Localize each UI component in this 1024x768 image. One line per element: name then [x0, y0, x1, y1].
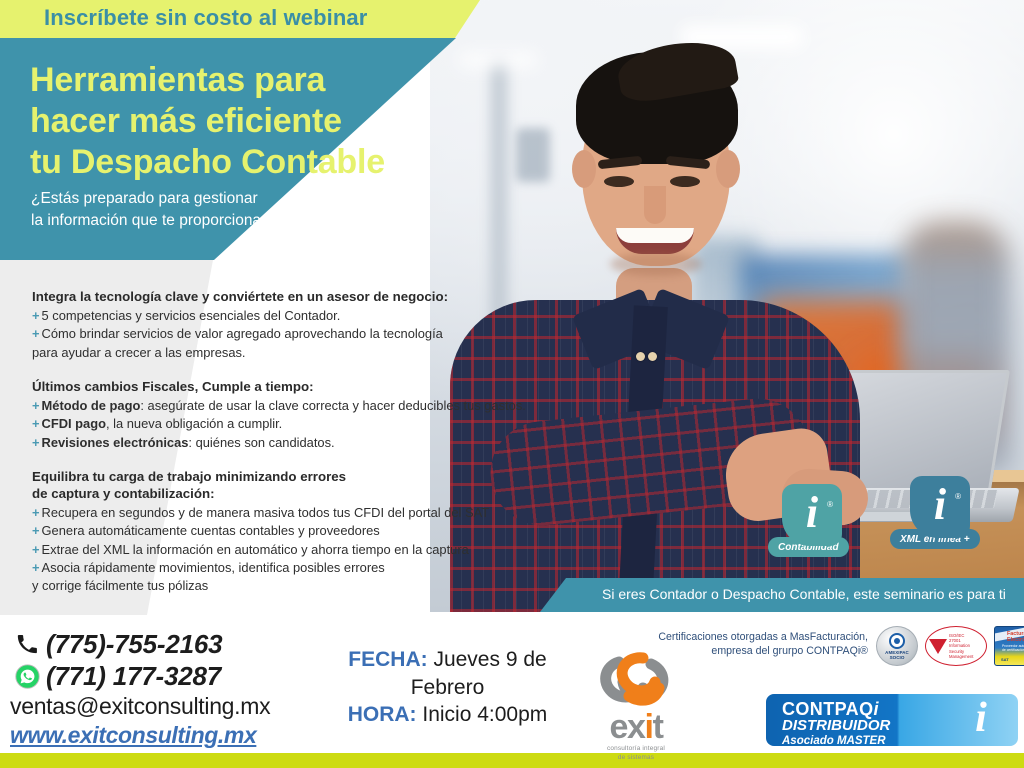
headline-line-2: hacer más eficiente [30, 101, 460, 142]
shirt-button [648, 352, 657, 361]
whatsapp-number: (771) 177-3287 [46, 661, 221, 692]
heading-line: Integra la tecnología clave y conviértet… [32, 288, 542, 305]
agenda-item-text: : asegúrate de usar la clave correcta y … [140, 398, 526, 413]
webinar-flyer: i ® Contabilidad i ® XML en línea + Si e… [0, 0, 1024, 768]
agenda-item: +Revisiones electrónicas: quiénes son ca… [32, 434, 542, 452]
contact-info: (775)-755-2163 (771) 177-3287 ventas@exi… [8, 628, 270, 749]
contpaqi-word: CONTPAQ [782, 699, 873, 719]
agenda-continuation: y corrige fácilmente tus pólizas [32, 577, 542, 595]
website-link[interactable]: www.exitconsulting.mx [8, 722, 270, 749]
headline-line-1: Herramientas para [30, 60, 460, 101]
factura-line-3: Proveedor autorizado de certificación [1002, 644, 1024, 652]
ear-right [716, 150, 740, 188]
agenda-block-heading: Integra la tecnología clave y conviértet… [32, 288, 542, 305]
agenda-item: +Asocia rápidamente movimientos, identif… [32, 559, 542, 577]
factura-electronica-sat-badge: Factura Electrónica Proveedor autorizado… [994, 626, 1024, 666]
agenda-block: Últimos cambios Fiscales, Cumple a tiemp… [32, 378, 542, 452]
certifications-line-1: Certificaciones otorgadas a MasFacturaci… [600, 630, 868, 644]
plus-bullet-icon: + [32, 435, 40, 450]
teeth [616, 228, 694, 243]
iso-27001-badge: ISO/IEC 27001 Information Security Manag… [925, 626, 987, 666]
factura-line-2: Electrónica [1007, 638, 1024, 644]
registered-mark: ® [827, 500, 833, 509]
agenda-item-text: Cómo brindar servicios de valor agregado… [42, 326, 443, 341]
event-datetime: FECHA: Jueves 9 de Febrero HORA: Inicio … [325, 646, 570, 729]
factura-title: Factura Electrónica [1007, 632, 1024, 644]
heading-line: de captura y contabilización: [32, 485, 542, 502]
event-date-line: FECHA: Jueves 9 de [325, 646, 570, 674]
headline-subtitle: ¿Estás preparado para gestionar la infor… [31, 188, 451, 232]
plus-bullet-icon: + [32, 560, 40, 575]
agenda-item-text: Extrae del XML la información en automát… [42, 542, 469, 557]
whatsapp-icon [8, 664, 46, 689]
product-badge-contabilidad: i ® Contabilidad [782, 484, 849, 557]
exit-tagline-line-2: de sistemas [578, 754, 694, 762]
agenda-item-text: Recupera en segundos y de manera masiva … [42, 505, 490, 520]
plus-bullet-icon: + [32, 308, 40, 323]
exit-word-accent: i [645, 708, 653, 746]
contpaqi-badge-text: CONTPAQi DISTRIBUIDOR Asociado MASTER [766, 694, 944, 746]
shirt-button [636, 352, 645, 361]
plus-bullet-icon: + [32, 416, 40, 431]
top-banner: Inscríbete sin costo al webinar [0, 0, 480, 38]
agenda-list: Integra la tecnología clave y conviértet… [32, 288, 542, 596]
eye-right [670, 176, 700, 187]
agenda-item: +Recupera en segundos y de manera masiva… [32, 504, 542, 522]
contpaqi-i-icon: i [944, 694, 1018, 746]
time-label: HORA: [348, 703, 417, 726]
i-glyph: i [975, 697, 987, 739]
agenda-block: Integra la tecnología clave y conviértet… [32, 288, 542, 362]
heading-line: Equilibra tu carga de trabajo minimizand… [32, 468, 542, 485]
i-glyph: i [806, 491, 818, 535]
factura-badge-card: Factura Electrónica Proveedor autorizado… [994, 626, 1024, 666]
agenda-block-heading: Equilibra tu carga de trabajo minimizand… [32, 468, 542, 502]
agenda-item-bold: Método de pago [42, 398, 141, 413]
contpaqi-i-icon: i ® [910, 476, 970, 538]
heading-line: Últimos cambios Fiscales, Cumple a tiemp… [32, 378, 542, 395]
subtitle-line-2: la información que te proporciona el XML… [31, 210, 451, 232]
product-badge-xml: i ® XML en línea + [910, 476, 980, 549]
time-value: Inicio 4:00pm [422, 703, 547, 726]
photo-caption-bar: Si eres Contador o Despacho Contable, es… [540, 578, 1024, 612]
nose [644, 186, 666, 224]
iso-badge-text: ISO/IEC 27001 Information Security Manag… [949, 633, 986, 659]
agenda-item-bold: CFDI pago [42, 416, 106, 431]
contpaqi-i-icon: i ® [782, 484, 842, 546]
bottom-accent-strip [0, 753, 1024, 768]
photo-caption-text: Si eres Contador o Despacho Contable, es… [540, 578, 1024, 602]
exit-logo: exit consultoría integral de sistemas [578, 652, 694, 762]
whatsapp-row[interactable]: (771) 177-3287 [8, 660, 270, 692]
agenda-item: +5 competencias y servicios esenciales d… [32, 307, 542, 325]
event-time-line: HORA: Inicio 4:00pm [325, 701, 570, 729]
agenda-item: +Extrae del XML la información en automá… [32, 541, 542, 559]
iso-badge-oval: ISO/IEC 27001 Information Security Manag… [925, 626, 987, 666]
agenda-item: +Método de pago: asegúrate de usar la cl… [32, 397, 542, 415]
exit-word-pre: ex [609, 708, 644, 746]
event-date-line-2: Febrero [325, 674, 570, 702]
iso-line-4: Management [949, 654, 986, 659]
plus-bullet-icon: + [32, 326, 40, 341]
registered-mark: ® [955, 492, 961, 501]
agenda-continuation: para ayudar a crecer a las empresas. [32, 344, 542, 362]
chin-shadow [610, 252, 702, 276]
plus-bullet-icon: + [32, 523, 40, 538]
agenda-item-text: Genera automáticamente cuentas contables… [42, 523, 380, 538]
factura-line-4: SAT [1001, 657, 1009, 662]
headline-line-3: tu Despacho Contable [30, 142, 460, 183]
iso-triangle-icon [929, 639, 947, 654]
contpaqi-word-i: i [873, 699, 878, 719]
date-value: Jueves 9 de [433, 648, 546, 671]
i-glyph: i [934, 483, 946, 527]
agenda-block-heading: Últimos cambios Fiscales, Cumple a tiemp… [32, 378, 542, 395]
agenda-block: Equilibra tu carga de trabajo minimizand… [32, 468, 542, 596]
contpaqi-line-3: Asociado MASTER [782, 735, 944, 746]
amexipac-line-2: SOCIO [890, 655, 905, 660]
plus-bullet-icon: + [32, 398, 40, 413]
page-title: Herramientas para hacer más eficiente tu… [30, 60, 460, 182]
phone-number: (775)-755-2163 [46, 629, 222, 660]
plus-bullet-icon: + [32, 505, 40, 520]
contpaqi-line-1: CONTPAQi [782, 700, 944, 718]
agenda-item-text: Asocia rápidamente movimientos, identifi… [42, 560, 385, 575]
exit-word-post: t [653, 708, 663, 746]
phone-icon [8, 633, 46, 655]
date-value-2: Febrero [411, 676, 485, 699]
agenda-item: +Genera automáticamente cuentas contable… [32, 522, 542, 540]
agenda-item-text: : quiénes son candidatos. [188, 435, 334, 450]
exit-tagline-line-1: consultoría integral [578, 745, 694, 753]
agenda-item-text: , la nueva obligación a cumplir. [106, 416, 282, 431]
amexipac-badge-circle: AMEXIPAC SOCIO [876, 626, 918, 666]
certification-badges: AMEXIPAC SOCIO ISO/IEC 27001 Information… [876, 626, 1024, 666]
eye-left [604, 176, 634, 187]
iso-line-3: Information Security [949, 643, 986, 654]
agenda-item: +CFDI pago, la nueva obligación a cumpli… [32, 415, 542, 433]
amexipac-ring-icon [889, 633, 905, 649]
exit-wordmark: exit [578, 711, 694, 743]
subtitle-line-1: ¿Estás preparado para gestionar [31, 188, 451, 210]
agenda-item: +Cómo brindar servicios de valor agregad… [32, 325, 542, 343]
top-banner-label: Inscríbete sin costo al webinar [0, 0, 480, 31]
amexipac-socio-badge: AMEXIPAC SOCIO [876, 626, 918, 666]
ear-left [572, 150, 596, 188]
contpaqi-distribuidor-badge: CONTPAQi DISTRIBUIDOR Asociado MASTER i [766, 694, 1018, 746]
plus-bullet-icon: + [32, 542, 40, 557]
phone-row[interactable]: (775)-755-2163 [8, 628, 270, 660]
exit-tagline: consultoría integral de sistemas [578, 745, 694, 762]
email-address[interactable]: ventas@exitconsulting.mx [8, 693, 270, 720]
agenda-item-text: 5 competencias y servicios esenciales de… [42, 308, 341, 323]
agenda-item-bold: Revisiones electrónicas [42, 435, 189, 450]
exit-logo-mark [595, 652, 677, 710]
date-label: FECHA: [348, 648, 427, 671]
contpaqi-line-2: DISTRIBUIDOR [782, 718, 944, 735]
